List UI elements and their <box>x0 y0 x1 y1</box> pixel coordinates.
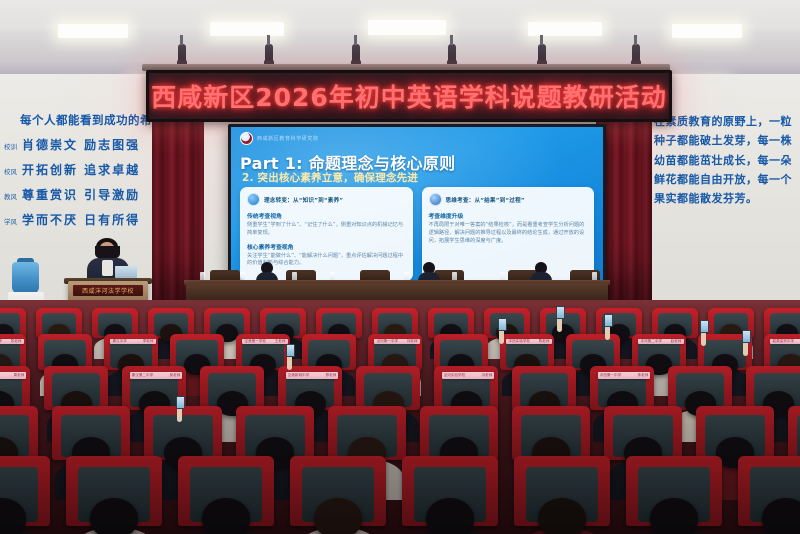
smartphone-icon <box>556 306 565 319</box>
seat-name-card-person: 陈老师 <box>539 340 550 344</box>
water-cooler-jug <box>12 262 39 294</box>
thinking-process-icon <box>429 193 442 206</box>
seat-name-card: 泾河实验学校冯老师 <box>442 372 495 379</box>
seat-name-card-school: 泾河第一中学 <box>376 340 398 344</box>
slogan-row-tag: 学风 <box>4 216 17 226</box>
slide-logo-text: 西咸新区教育科学研究院 <box>257 135 319 142</box>
slogan-row: 教风尊重赏识 引导激励 <box>4 186 156 203</box>
smartphone-icon <box>498 318 507 331</box>
seat-name-card: 沣河第二中学赵老师 <box>638 339 683 344</box>
ceiling-panel-light <box>528 22 602 36</box>
institute-logo-icon <box>240 132 253 145</box>
attendee-head <box>650 498 698 534</box>
seat-name-card-person: 李老师 <box>143 340 154 344</box>
slogan-row-value: 开拓创新 追求卓越 <box>22 161 140 178</box>
seat-name-card: 秦汉第二中学吴老师 <box>130 372 183 379</box>
attendee-head <box>202 498 250 534</box>
seat-name-card-person: 王老师 <box>275 340 286 344</box>
slide-card: 思维考查：从“结果”到“过程” 考查维度升级 不再局限于对唯一答案的“结果检核”… <box>422 187 595 281</box>
card-header: 理念转变：从“知识”到“素养” <box>247 193 406 206</box>
seat-name-card-person: 刘老师 <box>407 340 418 344</box>
smartphone-icon <box>176 396 185 409</box>
ceiling-panel-light <box>368 20 446 35</box>
slogan-row-value: 肖德崇文 励志图强 <box>22 136 140 153</box>
slogan-row-tag: 校风 <box>4 166 17 176</box>
attendee-head <box>426 498 474 534</box>
slogan-row-list: 校训肖德崇文 励志图强校风开拓创新 追求卓越教风尊重赏识 引导激励学风学而不厌 … <box>4 136 156 228</box>
banner-text: 西咸新区2026年初中英语学科说题教研活动 <box>151 78 667 114</box>
seat-name-card: 沣东第一中学张老师 <box>0 339 24 344</box>
card-section-title: 考查维度升级 <box>429 211 588 220</box>
seat-name-card-person: 周老师 <box>14 374 25 378</box>
concept-shift-icon <box>247 193 260 206</box>
seat-name-card-school: 沣西第一中学 <box>600 374 622 378</box>
audience-area: 沣东第一中学张老师秦汉中学李老师空港第一学校王老师泾河第一中学刘老师沣西实验学校… <box>0 300 800 534</box>
seat-name-card-person: 冯老师 <box>482 374 493 378</box>
seat-name-card-person: 吴老师 <box>170 374 181 378</box>
seat-name-card-school: 沣西实验学校 <box>508 340 530 344</box>
wall-slogan-right: 在素质教育的原野上，一粒种子都能破土发芽，每一株幼苗都能茁壮成长，每一朵鲜花都能… <box>654 112 800 208</box>
stage-curtain-left <box>152 116 204 306</box>
slogan-row: 校风开拓创新 追求卓越 <box>4 161 156 178</box>
seat-name-card: 能源金贸中学孙老师 <box>770 339 800 344</box>
card-header-text: 理念转变：从“知识”到“素养” <box>264 196 343 204</box>
seat-name-card-school: 能源金贸中学 <box>772 340 794 344</box>
seat-name-card-school: 沣东第一中学 <box>0 340 2 344</box>
ceiling-panel-light <box>672 24 742 38</box>
ceiling <box>0 0 800 74</box>
card-section-title: 核心素养考查视角 <box>247 242 406 251</box>
slide-logo-row: 西咸新区教育科学研究院 <box>240 132 319 145</box>
led-banner: 西咸新区2026年初中英语学科说题教研活动 <box>146 70 672 122</box>
seat-name-card-person: 郑老师 <box>326 374 337 378</box>
slogan-headline: 每个人都能看到成功的希望 <box>20 112 156 128</box>
speaker-shirt <box>102 260 113 276</box>
seat-name-card: 空港第一学校王老师 <box>242 339 287 344</box>
slide-subtitle: 2. 突出核心素养立意，确保理念先进 <box>242 170 418 185</box>
smartphone-icon <box>286 344 295 357</box>
slogan-row: 学风学而不厌 日有所得 <box>4 211 156 228</box>
seat-name-card: 沣东新城中学周老师 <box>0 372 26 379</box>
card-header: 思维考查：从“结果”到“过程” <box>429 193 588 206</box>
seat-name-card: 空港新城中学郑老师 <box>286 372 339 379</box>
card-section-body: 不再局限于对唯一答案的“结果检核”，而是看重考查学生分析问题的逻辑路径、解决问题… <box>429 222 588 245</box>
seat-name-card-school: 沣河第二中学 <box>640 340 662 344</box>
seat-name-card-person: 朱老师 <box>638 374 649 378</box>
seat-name-card-person: 赵老师 <box>671 340 682 344</box>
seat-name-card: 沣西第一中学朱老师 <box>598 372 651 379</box>
slogan-row-value: 尊重赏识 引导激励 <box>22 186 140 203</box>
card-section-title: 传统考查视角 <box>247 211 406 220</box>
podium-laptop <box>115 266 137 278</box>
slogan-row: 校训肖德崇文 励志图强 <box>4 136 156 153</box>
card-section-body: 侧重学生“学到了什么”、“记住了什么”，侧重对知识点的机械记忆与简单复现。 <box>247 222 406 238</box>
conference-hall-photo: 每个人都能看到成功的希望 校训肖德崇文 励志图强校风开拓创新 追求卓越教风尊重赏… <box>0 0 800 534</box>
auditorium-seat <box>788 406 800 460</box>
card-header-text: 思维考查：从“结果”到“过程” <box>446 196 525 204</box>
attendee-head <box>538 498 586 534</box>
slogan-row-tag: 校训 <box>4 141 17 151</box>
ceiling-panel-light <box>210 22 284 36</box>
podium-nameplate-text: 西咸沣河法学学校 <box>82 286 134 295</box>
seat-name-card-school: 秦汉第二中学 <box>132 374 154 378</box>
seat-name-card-school: 空港第一学校 <box>244 340 266 344</box>
seat-name-card-person: 张老师 <box>11 340 22 344</box>
ceiling-panel-light <box>58 24 128 38</box>
seat-name-card: 泾河第一中学刘老师 <box>374 339 419 344</box>
slogan-row-value: 学而不厌 日有所得 <box>22 211 140 228</box>
podium-nameplate: 西咸沣河法学学校 <box>73 285 143 296</box>
attendee-head <box>314 498 362 534</box>
wall-slogan-left: 每个人都能看到成功的希望 校训肖德崇文 励志图强校风开拓创新 追求卓越教风尊重赏… <box>4 112 156 228</box>
smartphone-icon <box>700 320 709 333</box>
seat-name-card-school: 秦汉中学 <box>112 340 126 344</box>
seat-name-card-school: 泾河实验学校 <box>444 374 466 378</box>
smartphone-icon <box>742 330 751 343</box>
attendee-head <box>762 498 800 534</box>
slogan-row-tag: 教风 <box>4 191 17 201</box>
seat-name-card: 秦汉中学李老师 <box>110 339 155 344</box>
attendee-head <box>90 498 138 534</box>
seat-name-card: 沣西实验学校陈老师 <box>506 339 551 344</box>
seat-name-card-school: 空港新城中学 <box>288 374 310 378</box>
smartphone-icon <box>604 314 613 327</box>
